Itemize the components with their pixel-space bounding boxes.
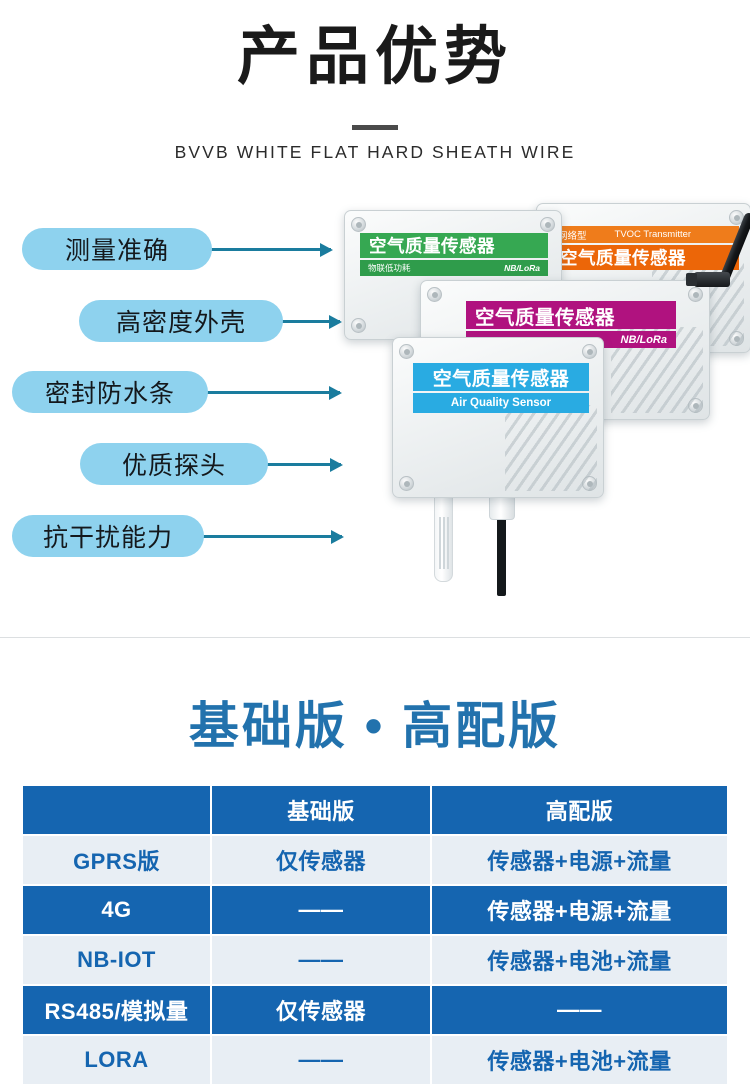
screw-icon: [582, 344, 597, 359]
row-name: GPRS版: [23, 836, 210, 884]
table-row: GPRS版 仅传感器 传感器+电源+流量: [23, 836, 727, 884]
probe-slot: [443, 517, 445, 569]
feature-pill-quality-probe: 优质探头: [80, 443, 268, 485]
table-row: NB-IOT —— 传感器+电池+流量: [23, 936, 727, 984]
screw-icon: [688, 398, 703, 413]
feature-pill-waterproof-seal: 密封防水条: [12, 371, 208, 413]
device-blue-sensor: 空气质量传感器 Air Quality Sensor: [392, 337, 604, 498]
row-basic: 仅传感器: [212, 986, 430, 1034]
table-header-blank: [23, 786, 210, 834]
screw-icon: [729, 331, 744, 346]
row-basic: 仅传感器: [212, 836, 430, 884]
screw-icon: [351, 217, 366, 232]
device-label-subtitle: Air Quality Sensor: [413, 393, 589, 413]
device-label-tag: 网络型: [558, 228, 587, 242]
screw-icon: [399, 344, 414, 359]
table-row: LORA —— 传感器+电池+流量: [23, 1036, 727, 1084]
device-label-sub-right: NB/LoRa: [504, 263, 540, 273]
feature-pill-high-density-shell: 高密度外壳: [79, 300, 283, 342]
device-label-english: TVOC Transmitter: [615, 229, 692, 240]
device-label-blue: 空气质量传感器 Air Quality Sensor: [413, 363, 589, 413]
title-divider-rule: [352, 125, 398, 130]
screw-icon: [427, 287, 442, 302]
table-header-basic: 基础版: [212, 786, 430, 834]
row-pro: 传感器+电源+流量: [432, 836, 727, 884]
device-label-sub-right: NB/LoRa: [621, 334, 667, 346]
table-header-pro: 高配版: [432, 786, 727, 834]
probe-slot: [439, 517, 441, 569]
antenna-base: [694, 272, 730, 287]
row-name: RS485/模拟量: [23, 986, 210, 1034]
arrow-icon-3: [205, 391, 340, 394]
arrow-icon-5: [202, 535, 342, 538]
versions-comparison-section: 基础版 • 高配版 基础版 高配版 GPRS版 仅传感器 传感器+电源+流量 4…: [0, 638, 750, 1092]
probe-slot: [447, 517, 449, 569]
table-row: RS485/模拟量 仅传感器 ——: [23, 986, 727, 1034]
arrow-icon-4: [266, 463, 341, 466]
row-pro: 传感器+电池+流量: [432, 1036, 727, 1084]
screw-icon: [540, 217, 555, 232]
row-pro: 传感器+电池+流量: [432, 936, 727, 984]
row-name: LORA: [23, 1036, 210, 1084]
versions-title: 基础版 • 高配版: [0, 686, 750, 758]
row-basic: ——: [212, 1036, 430, 1084]
screw-icon: [351, 318, 366, 333]
row-pro: 传感器+电源+流量: [432, 886, 727, 934]
row-basic: ——: [212, 886, 430, 934]
sensor-probe: [434, 494, 453, 582]
device-label-title: 空气质量传感器: [413, 363, 589, 391]
page-title: 产品优势: [0, 22, 750, 93]
table-header-row: 基础版 高配版: [23, 786, 727, 834]
screw-icon: [582, 476, 597, 491]
antenna-icon: [690, 214, 750, 292]
device-label-subtitle: 物联低功耗 NB/LoRa: [360, 260, 548, 276]
device-label-title: 空气质量传感器: [466, 301, 676, 329]
feature-pill-measurement-accurate: 测量准确: [22, 228, 212, 270]
screw-icon: [399, 476, 414, 491]
screw-group: [393, 338, 603, 497]
product-advantages-section: 产品优势 BVVB WHITE FLAT HARD SHEATH WIRE 测量…: [0, 0, 750, 638]
arrow-icon-1: [208, 248, 331, 251]
row-basic: ——: [212, 936, 430, 984]
device-label-sub-left: 物联低功耗: [368, 262, 411, 274]
device-label-title: 空气质量传感器: [360, 233, 548, 258]
row-pro: ——: [432, 986, 727, 1034]
sensor-cable: [497, 518, 506, 596]
table-row: 4G —— 传感器+电源+流量: [23, 886, 727, 934]
feature-pill-anti-interference: 抗干扰能力: [12, 515, 204, 557]
row-name: NB-IOT: [23, 936, 210, 984]
arrow-icon-2: [280, 320, 340, 323]
device-label-green: 空气质量传感器 物联低功耗 NB/LoRa: [360, 233, 548, 276]
page-subtitle: BVVB WHITE FLAT HARD SHEATH WIRE: [0, 142, 750, 163]
antenna-connector: [686, 273, 697, 286]
row-name: 4G: [23, 886, 210, 934]
version-comparison-table: 基础版 高配版 GPRS版 仅传感器 传感器+电源+流量 4G —— 传感器+电…: [21, 784, 729, 1086]
